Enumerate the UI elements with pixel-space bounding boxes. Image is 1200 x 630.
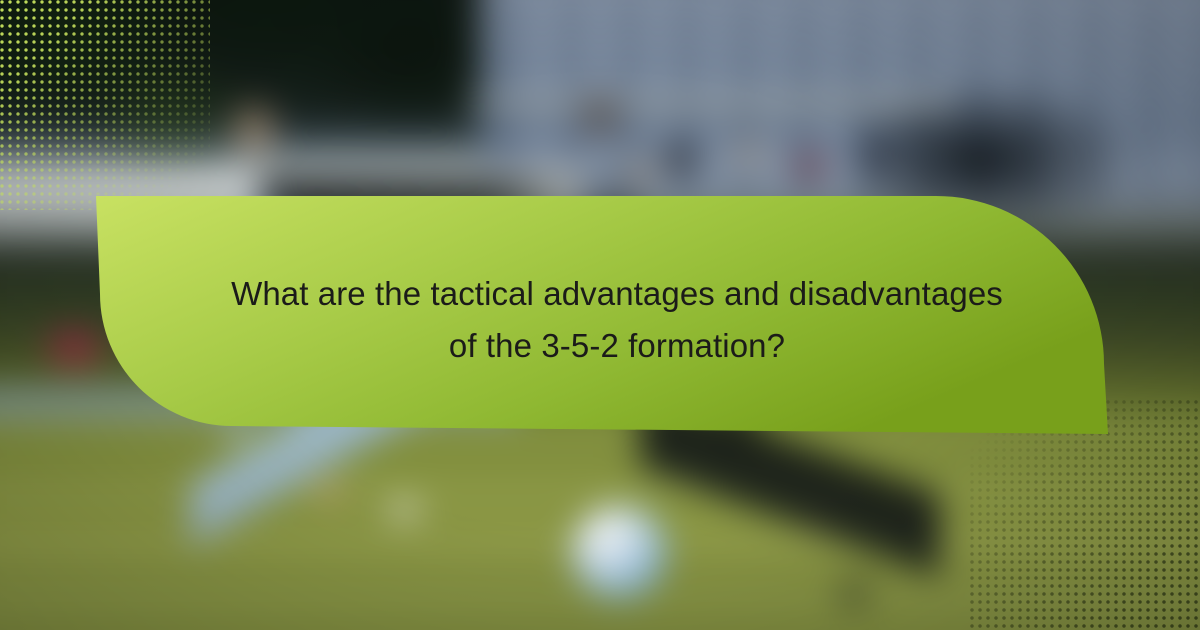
question-banner: What are the tactical advantages and dis… (96, 194, 1108, 434)
share-card: What are the tactical advantages and dis… (0, 0, 1200, 630)
photo-player-right-legs (640, 400, 940, 630)
photo-soccer-ball (572, 506, 666, 598)
question-text: What are the tactical advantages and dis… (96, 268, 1108, 372)
